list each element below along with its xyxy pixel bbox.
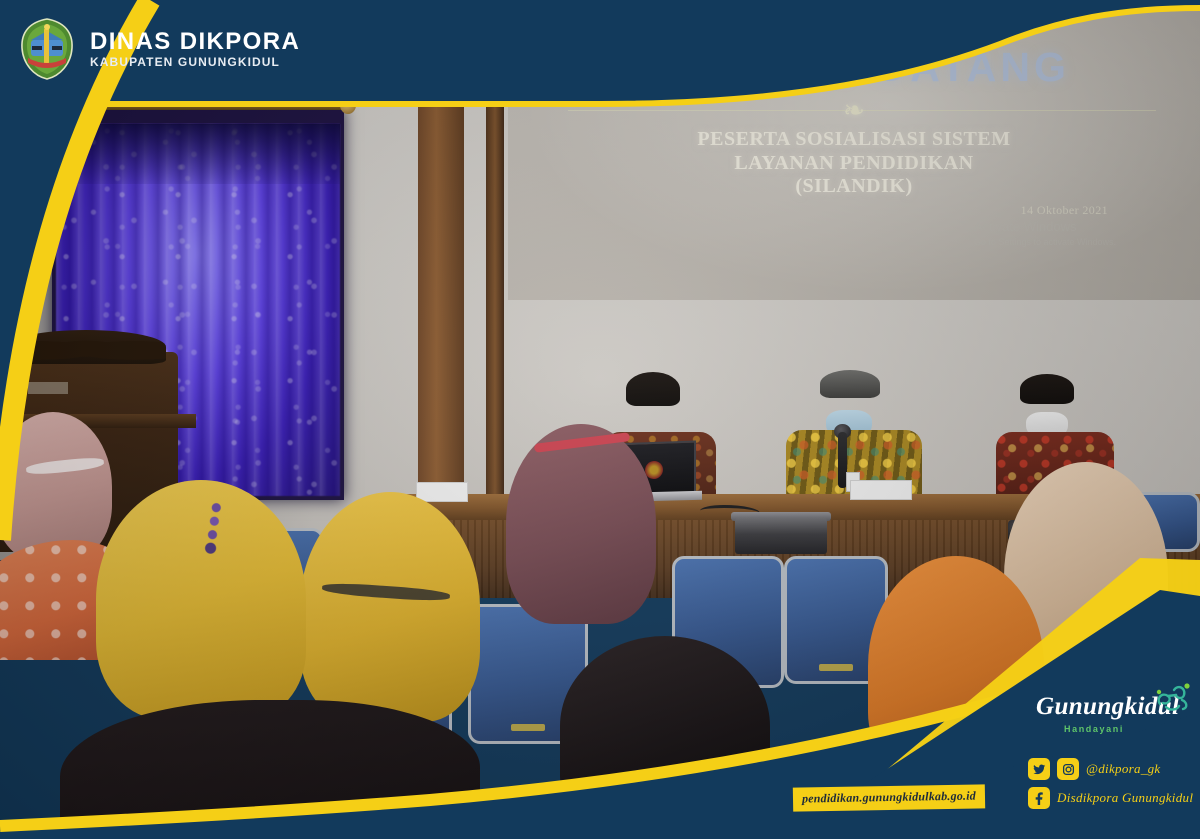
instagram-handle: @dikpora_gk bbox=[1086, 761, 1160, 777]
facebook-handle: Disdikpora Gunungkidul bbox=[1057, 790, 1193, 806]
brand-text: DINAS DIKPORA KABUPATEN GUNUNGKIDUL bbox=[90, 30, 300, 68]
region-tagline: Handayani bbox=[1064, 724, 1179, 734]
social-media-block: @dikpora_gk Disdikpora Gunungkidul bbox=[1028, 758, 1193, 809]
green-flourish-icon bbox=[1152, 680, 1192, 714]
gunungkidul-brand-lockup: Gunungkidul Handayani bbox=[1036, 694, 1179, 734]
social-row-top: @dikpora_gk bbox=[1028, 758, 1193, 780]
poster-frame bbox=[0, 0, 1200, 839]
twitter-icon[interactable] bbox=[1028, 758, 1050, 780]
brand-title: DINAS DIKPORA bbox=[90, 30, 300, 54]
poster-canvas: SELAMAT DATANG ❧ PESERTA SOSIALISASI SIS… bbox=[0, 0, 1200, 839]
website-url-ribbon[interactable]: pendidikan.gunungkidulkab.go.id bbox=[793, 784, 985, 811]
instagram-icon[interactable] bbox=[1057, 758, 1079, 780]
facebook-icon[interactable] bbox=[1028, 787, 1050, 809]
brand-header: DINAS DIKPORA KABUPATEN GUNUNGKIDUL bbox=[18, 18, 300, 80]
social-row-bottom: Disdikpora Gunungkidul bbox=[1028, 787, 1193, 809]
brand-subtitle: KABUPATEN GUNUNGKIDUL bbox=[90, 56, 300, 68]
gunungkidul-regency-crest-icon bbox=[18, 18, 76, 80]
